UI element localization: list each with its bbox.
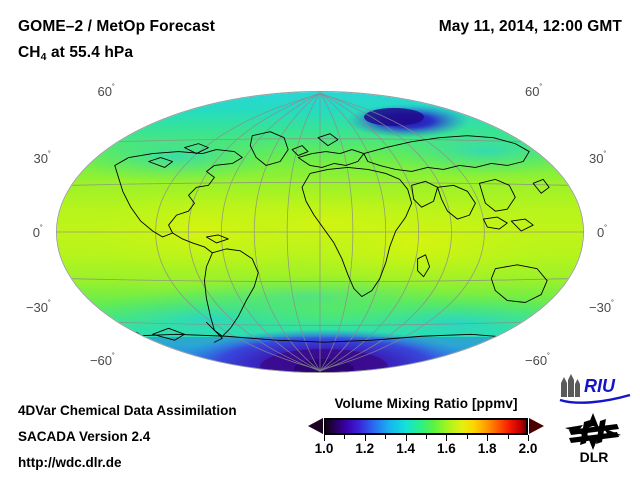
colorbar-cap-low bbox=[308, 418, 323, 434]
page-title: GOME–2 / MetOp Forecast bbox=[18, 18, 215, 36]
lat-label-30s-left: −30˚ bbox=[26, 299, 51, 315]
lat-label-30n-left: 30˚ bbox=[34, 150, 51, 166]
lat-label-30s-right: −30˚ bbox=[589, 299, 614, 315]
lat-label-60s-right: −60˚ bbox=[525, 352, 550, 368]
footer-url-link[interactable]: http://wdc.dlr.de bbox=[18, 455, 122, 470]
colorbar-tick-label: 1.8 bbox=[478, 441, 497, 456]
colorbar-tick-label: 1.4 bbox=[396, 441, 415, 456]
species-prefix: CH bbox=[18, 44, 41, 61]
map-data-field bbox=[57, 92, 583, 372]
colorbar-tick-label: 2.0 bbox=[519, 441, 538, 456]
lat-label-30n-right: 30˚ bbox=[589, 150, 606, 166]
species-level: at 55.4 hPa bbox=[47, 44, 134, 61]
lat-label-60s-left: −60˚ bbox=[90, 352, 115, 368]
dlr-logo: DLR bbox=[563, 412, 625, 464]
colorbar-minor-tick bbox=[426, 435, 427, 439]
colorbar-tick-label: 1.6 bbox=[437, 441, 456, 456]
colorbar-row bbox=[306, 416, 546, 438]
footer-method-label: 4DVar Chemical Data Assimilation bbox=[18, 403, 237, 418]
riu-logo: RIU bbox=[556, 373, 632, 405]
species-subscript: 4 bbox=[41, 51, 47, 63]
colorbar-title: Volume Mixing Ratio [ppmv] bbox=[306, 396, 546, 411]
map-panel: 60˚ 30˚ 0˚ −30˚ −60˚ 60˚ 30˚ 0˚ −30˚ −60… bbox=[57, 92, 583, 372]
colorbar: Volume Mixing Ratio [ppmv] 1.01.21.41.61… bbox=[306, 396, 546, 459]
footer-version-label: SACADA Version 2.4 bbox=[18, 429, 150, 444]
dlr-logo-text: DLR bbox=[580, 449, 609, 464]
colorbar-minor-tick bbox=[385, 435, 386, 439]
timestamp-label: May 11, 2014, 12:00 GMT bbox=[439, 18, 622, 36]
lat-label-60n-right: 60˚ bbox=[525, 83, 542, 99]
colorbar-minor-tick bbox=[467, 435, 468, 439]
lat-label-0-left: 0˚ bbox=[33, 224, 43, 240]
colorbar-gradient bbox=[324, 418, 528, 435]
lat-label-0-right: 0˚ bbox=[597, 224, 607, 240]
riu-logo-text: RIU bbox=[584, 376, 616, 396]
colorbar-tick-labels: 1.01.21.41.61.82.0 bbox=[306, 441, 546, 459]
colorbar-minor-tick bbox=[508, 435, 509, 439]
colorbar-tick-label: 1.0 bbox=[315, 441, 334, 456]
species-subtitle: CH4 at 55.4 hPa bbox=[18, 44, 133, 62]
colorbar-cap-high bbox=[529, 418, 544, 434]
colorbar-tick-label: 1.2 bbox=[355, 441, 374, 456]
lat-label-60n-left: 60˚ bbox=[98, 83, 115, 99]
colorbar-minor-tick bbox=[344, 435, 345, 439]
map-ellipse-clip bbox=[57, 92, 583, 372]
